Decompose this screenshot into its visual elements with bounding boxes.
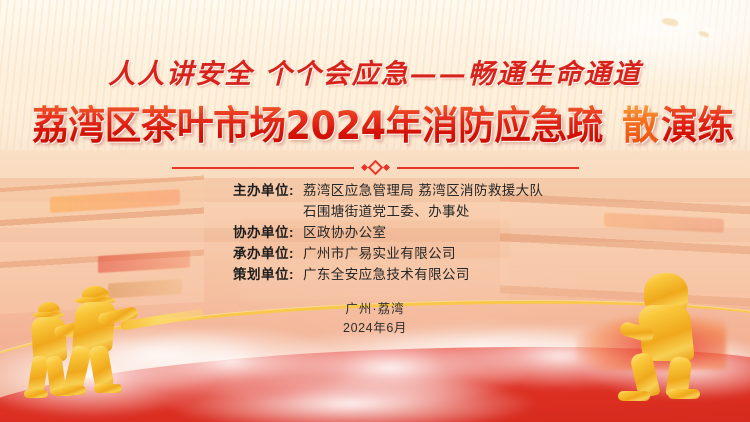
organizer-row: 策划单位: 广东全安应急技术有限公司 — [210, 264, 540, 285]
organizer-value: 区政协办公室 — [294, 222, 386, 243]
organizer-row: 主办单位: 荔湾区应急管理局 荔湾区消防救援大队 — [210, 180, 540, 201]
footer-block: 广州·荔湾 2024年6月 — [0, 300, 750, 338]
diamond-dot — [360, 164, 367, 171]
title-part-1: 荔湾区茶叶市场2024年消防应急疏 — [32, 103, 603, 151]
divider-line-right — [397, 167, 579, 169]
organizer-row: 协办单位: 区政协办公室 — [210, 222, 540, 243]
organizer-label: 承办单位: — [210, 243, 294, 264]
diamond-dot — [382, 164, 389, 171]
poster-canvas: 人人讲安全 个个会应急——畅通生命通道 荔湾区茶叶市场2024年消防应急疏散演练… — [0, 0, 750, 422]
location-text: 广州·荔湾 — [0, 300, 750, 319]
diamond-ornament-icon — [362, 162, 389, 173]
organizer-label — [210, 201, 294, 222]
title-part-2: 演练 — [662, 103, 734, 151]
organizer-value: 广东全安应急技术有限公司 — [294, 264, 470, 285]
slogan-text: 人人讲安全 个个会应急——畅通生命通道 — [0, 52, 750, 91]
date-text: 2024年6月 — [0, 319, 750, 338]
title-accent-char: 散 — [622, 103, 658, 151]
ornament-divider — [0, 162, 750, 173]
organizer-label: 协办单位: — [210, 222, 294, 243]
organizer-value: 广州市广易实业有限公司 — [294, 243, 456, 264]
organizer-row: 石围塘街道党工委、办事处 — [210, 201, 540, 222]
page-title: 荔湾区茶叶市场2024年消防应急疏散演练 — [0, 103, 750, 151]
organizer-label: 主办单位: — [210, 180, 294, 201]
organizer-value: 荔湾区应急管理局 荔湾区消防救援大队 — [294, 180, 543, 201]
poster-content: 人人讲安全 个个会应急——畅通生命通道 荔湾区茶叶市场2024年消防应急疏散演练… — [0, 0, 750, 422]
organizer-row: 承办单位: 广州市广易实业有限公司 — [210, 243, 540, 264]
organizer-label: 策划单位: — [210, 264, 294, 285]
divider-line-left — [172, 167, 354, 169]
organizer-list: 主办单位: 荔湾区应急管理局 荔湾区消防救援大队 石围塘街道党工委、办事处 协办… — [0, 180, 750, 285]
organizer-value: 石围塘街道党工委、办事处 — [294, 201, 470, 222]
diamond-shape — [367, 160, 383, 176]
